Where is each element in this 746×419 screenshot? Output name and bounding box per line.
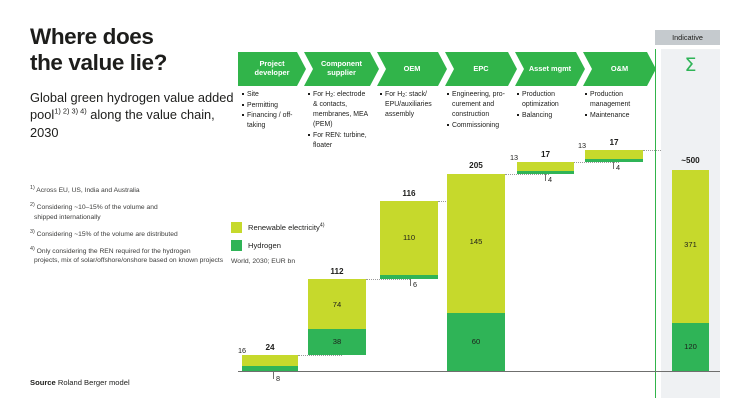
bar-total-component-supplier: 112 (308, 267, 366, 276)
bar-value-renewable-asset-mgmt: 13 (510, 153, 518, 162)
footnote-3-marker: 3) (30, 228, 35, 234)
bar-value-hydrogen-o-and-m: 4 (616, 163, 620, 172)
footnote-3: 3) Considering ~15% of the volume are di… (30, 230, 240, 240)
footnote-1-marker: 1) (30, 185, 35, 191)
footnotes-list: 1) Across EU, US, India and Australia 2)… (30, 186, 240, 273)
footnote-2: 2) Considering ~10–15% of the volume and… (30, 203, 240, 222)
source-text: Roland Berger model (58, 378, 130, 387)
subtitle-footnote-refs: 1) 2) 3) 4) (54, 107, 86, 116)
bar-epc[interactable]: 205 145 60 (447, 174, 505, 371)
footnote-4: 4) Only considering the REN required for… (30, 247, 240, 266)
bar-total-oem: 116 (380, 189, 438, 198)
footnote-4-text-cont: projects, mix of solar/offshore/onshore … (30, 256, 240, 266)
bar-total-project-developer: 24 (242, 343, 298, 352)
left-panel: Where does the value lie? Global green h… (30, 24, 235, 141)
bar-total-o-and-m: 17 (585, 138, 643, 147)
bar-value-hydrogen-total: 120 (672, 342, 709, 351)
bar-total-epc: 205 (447, 161, 505, 170)
page-title-line2: the value lie? (30, 50, 167, 75)
bar-o-and-m[interactable]: 17 (585, 150, 643, 162)
page-title-line1: Where does (30, 24, 154, 49)
total-column-divider (655, 49, 656, 398)
waterfall-plot: 24 16 8 112 74 38 116 110 6 (238, 28, 658, 398)
connector-2-3 (366, 279, 410, 280)
footnote-3-text: Considering ~15% of the volume are distr… (37, 231, 178, 238)
bar-value-hydrogen-component-supplier: 38 (308, 337, 366, 346)
bar-value-renewable-component-supplier: 74 (308, 300, 366, 309)
footnote-4-marker: 4) (30, 245, 35, 251)
footnote-2-marker: 2) (30, 202, 35, 208)
leader-line-hydrogen-oem (410, 279, 411, 286)
footnote-2-text-cont: shipped internationally (30, 213, 240, 223)
footnote-1: 1) Across EU, US, India and Australia (30, 186, 240, 196)
waterfall-chart: Project developer Component supplier OEM… (238, 28, 720, 398)
bar-project-developer[interactable]: 24 (242, 355, 298, 371)
total-value-label: ~500 (661, 156, 720, 165)
page-title: Where does the value lie? (30, 24, 235, 76)
bar-segment-hydrogen-oem (380, 275, 438, 279)
bar-total-asset-mgmt: 17 (517, 150, 574, 159)
bar-value-renewable-o-and-m: 13 (578, 141, 586, 150)
leader-line-hydrogen-o-and-m (613, 162, 614, 169)
connector-1-2 (298, 355, 342, 356)
footnote-4-text: Only considering the REN required for th… (37, 248, 191, 255)
bar-value-renewable-epc: 145 (447, 237, 505, 246)
bar-total[interactable]: 371 120 (672, 170, 709, 371)
bar-value-renewable-oem: 110 (380, 233, 438, 242)
bar-value-hydrogen-asset-mgmt: 4 (548, 175, 552, 184)
connector-4-5 (505, 174, 549, 175)
bar-value-hydrogen-epc: 60 (447, 337, 505, 346)
sigma-icon: Σ (661, 56, 720, 75)
source-label: Source (30, 378, 56, 387)
bar-value-renewable-project-developer: 16 (238, 346, 246, 355)
page-subtitle: Global green hydrogen value added pool1)… (30, 89, 235, 141)
leader-line-hydrogen-project-developer (273, 371, 274, 379)
bar-segment-hydrogen-project-developer (242, 366, 298, 371)
slide-root: Where does the value lie? Global green h… (0, 0, 746, 419)
bar-value-hydrogen-project-developer: 8 (276, 374, 280, 383)
bar-component-supplier[interactable]: 112 74 38 (308, 279, 366, 355)
footnote-2-text: Considering ~10–15% of the volume and (37, 204, 158, 211)
total-zero-axis-line (655, 371, 720, 372)
bar-value-hydrogen-oem: 6 (413, 280, 417, 289)
bar-segment-renewable-o-and-m (585, 150, 643, 159)
leader-line-hydrogen-asset-mgmt (545, 174, 546, 181)
bar-segment-renewable-asset-mgmt (517, 162, 574, 171)
bar-oem[interactable]: 116 110 (380, 201, 438, 279)
indicative-badge-label: Indicative (672, 33, 703, 42)
zero-axis-line (238, 371, 663, 372)
bar-value-renewable-total: 371 (672, 240, 709, 249)
indicative-badge: Indicative (655, 30, 720, 45)
bar-segment-hydrogen-o-and-m (585, 159, 643, 162)
source-line: Source Roland Berger model (30, 378, 130, 387)
bar-asset-mgmt[interactable]: 17 (517, 162, 574, 174)
footnote-1-text: Across EU, US, India and Australia (36, 187, 139, 194)
bar-segment-renewable-project-developer (242, 355, 298, 366)
